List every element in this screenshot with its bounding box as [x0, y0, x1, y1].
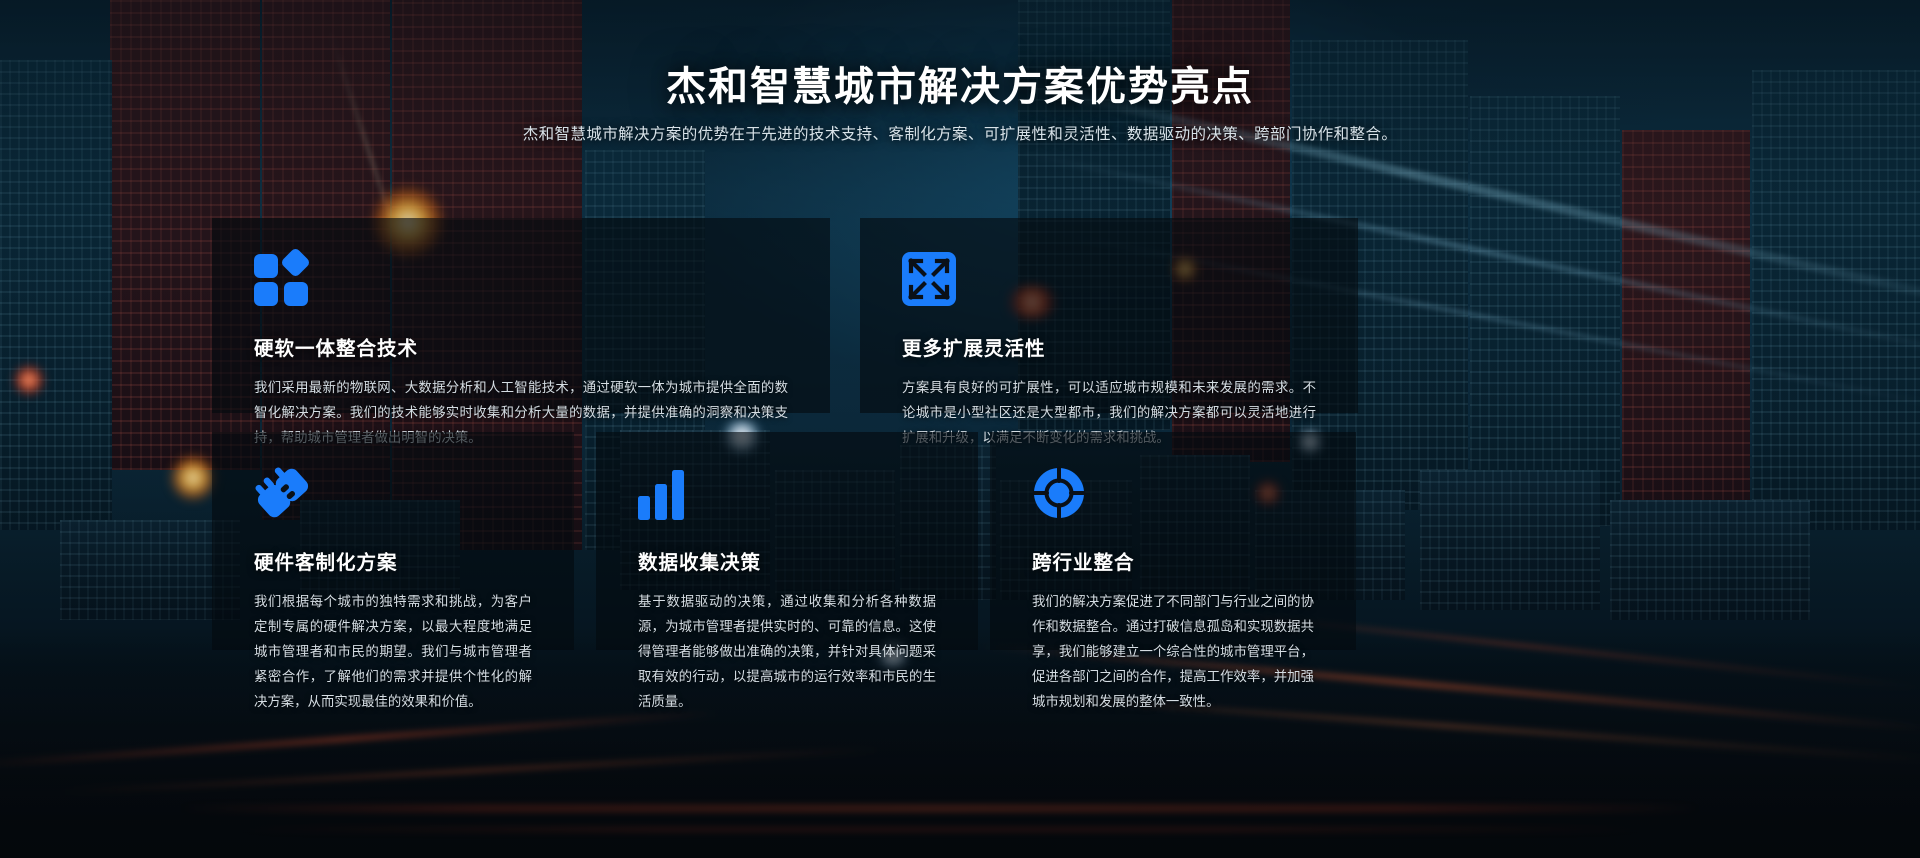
- target-crosshair-icon: [1032, 466, 1314, 520]
- feature-card-crossindustry: 跨行业整合 我们的解决方案促进了不同部门与行业之间的协作和数据整合。通过打破信息…: [990, 432, 1356, 650]
- card-title: 硬软一体整合技术: [254, 332, 788, 361]
- feature-card-data: 数据收集决策 基于数据驱动的决策，通过收集和分析各种数据源，为城市管理者提供实时…: [596, 432, 978, 650]
- card-title: 硬件客制化方案: [254, 546, 532, 575]
- bar-chart-icon: [638, 466, 936, 520]
- feature-card-scalability: 更多扩展灵活性 方案具有良好的可扩展性，可以适应城市规模和未来发展的需求。不论城…: [860, 218, 1358, 413]
- card-title: 数据收集决策: [638, 546, 936, 575]
- card-body: 我们根据每个城市的独特需求和挑战，为客户定制专属的硬件解决方案，以最大程度地满足…: [254, 589, 532, 714]
- feature-card-customization: 硬件客制化方案 我们根据每个城市的独特需求和挑战，为客户定制专属的硬件解决方案，…: [212, 432, 574, 650]
- four-blocks-icon: [254, 252, 788, 306]
- card-body: 我们的解决方案促进了不同部门与行业之间的协作和数据整合。通过打破信息孤岛和实现数…: [1032, 589, 1314, 714]
- feature-card-integration: 硬软一体整合技术 我们采用最新的物联网、大数据分析和人工智能技术，通过硬软一体为…: [212, 218, 830, 413]
- expand-arrows-icon: [902, 252, 1316, 306]
- custom-hardware-icon: [254, 466, 532, 520]
- card-title: 更多扩展灵活性: [902, 332, 1316, 361]
- page-subtitle: 杰和智慧城市解决方案的优势在于先进的技术支持、客制化方案、可扩展性和灵活性、数据…: [0, 122, 1920, 144]
- card-title: 跨行业整合: [1032, 546, 1314, 575]
- card-body: 基于数据驱动的决策，通过收集和分析各种数据源，为城市管理者提供实时的、可靠的信息…: [638, 589, 936, 714]
- page-title: 杰和智慧城市解决方案优势亮点: [0, 54, 1920, 112]
